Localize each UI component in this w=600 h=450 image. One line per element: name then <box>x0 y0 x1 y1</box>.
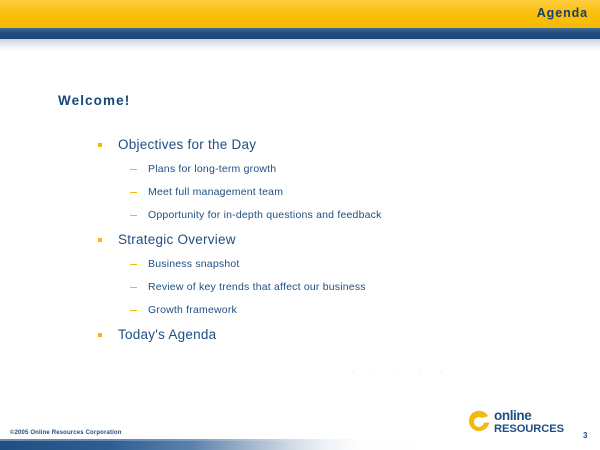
logo-word-online: online <box>494 409 576 422</box>
list-item-label: Business snapshot <box>148 258 240 270</box>
list-item-label: Meet full management team <box>148 186 283 198</box>
dash-bullet-icon <box>130 169 137 170</box>
header-fade-gradient <box>0 39 600 52</box>
footer-gradient-highlight <box>0 439 600 441</box>
page-number: 3 <box>583 431 587 440</box>
agenda-bullet-list: Objectives for the Day Plans for long-te… <box>0 132 600 348</box>
list-item: Review of key trends that affect our bus… <box>0 276 600 299</box>
list-item-label: Strategic Overview <box>118 232 236 247</box>
list-item: Strategic Overview <box>0 227 600 253</box>
slide-content: Welcome! Objectives for the Day Plans fo… <box>0 52 600 420</box>
list-item: Today's Agenda <box>0 322 600 348</box>
slide-title: Agenda <box>537 5 588 21</box>
logo-swoosh-icon <box>466 409 492 435</box>
logo-word-resources: RESOURCES <box>494 423 576 435</box>
list-item-label: Today's Agenda <box>118 327 216 342</box>
dash-bullet-icon <box>130 287 137 288</box>
square-bullet-icon <box>98 238 102 242</box>
list-item-label: Plans for long-term growth <box>148 163 276 175</box>
dash-bullet-icon <box>130 310 137 311</box>
dash-bullet-icon <box>130 192 137 193</box>
list-item-label: Review of key trends that affect our bus… <box>148 281 366 293</box>
list-item-label: Objectives for the Day <box>118 137 256 152</box>
list-item: Meet full management team <box>0 181 600 204</box>
header-navy-sheen <box>0 28 600 39</box>
list-item: Growth framework <box>0 299 600 322</box>
welcome-heading: Welcome! <box>58 93 130 108</box>
square-bullet-icon <box>98 143 102 147</box>
square-bullet-icon <box>98 333 102 337</box>
logo-wordmark: online RESOURCES <box>494 409 576 435</box>
list-item: Business snapshot <box>0 253 600 276</box>
list-item: Opportunity for in-depth questions and f… <box>0 204 600 227</box>
list-item: Plans for long-term growth <box>0 158 600 181</box>
slide-header: Agenda <box>0 0 600 52</box>
copyright-notice: ©2005 Online Resources Corporation <box>10 430 122 436</box>
faint-artifact-dots <box>352 367 462 379</box>
dash-bullet-icon <box>130 215 137 216</box>
dash-bullet-icon <box>130 264 137 265</box>
online-resources-logo: online RESOURCES <box>466 405 574 438</box>
list-item: Objectives for the Day <box>0 132 600 158</box>
list-item-label: Opportunity for in-depth questions and f… <box>148 209 382 221</box>
header-gold-sheen <box>0 0 600 28</box>
list-item-label: Growth framework <box>148 304 237 316</box>
